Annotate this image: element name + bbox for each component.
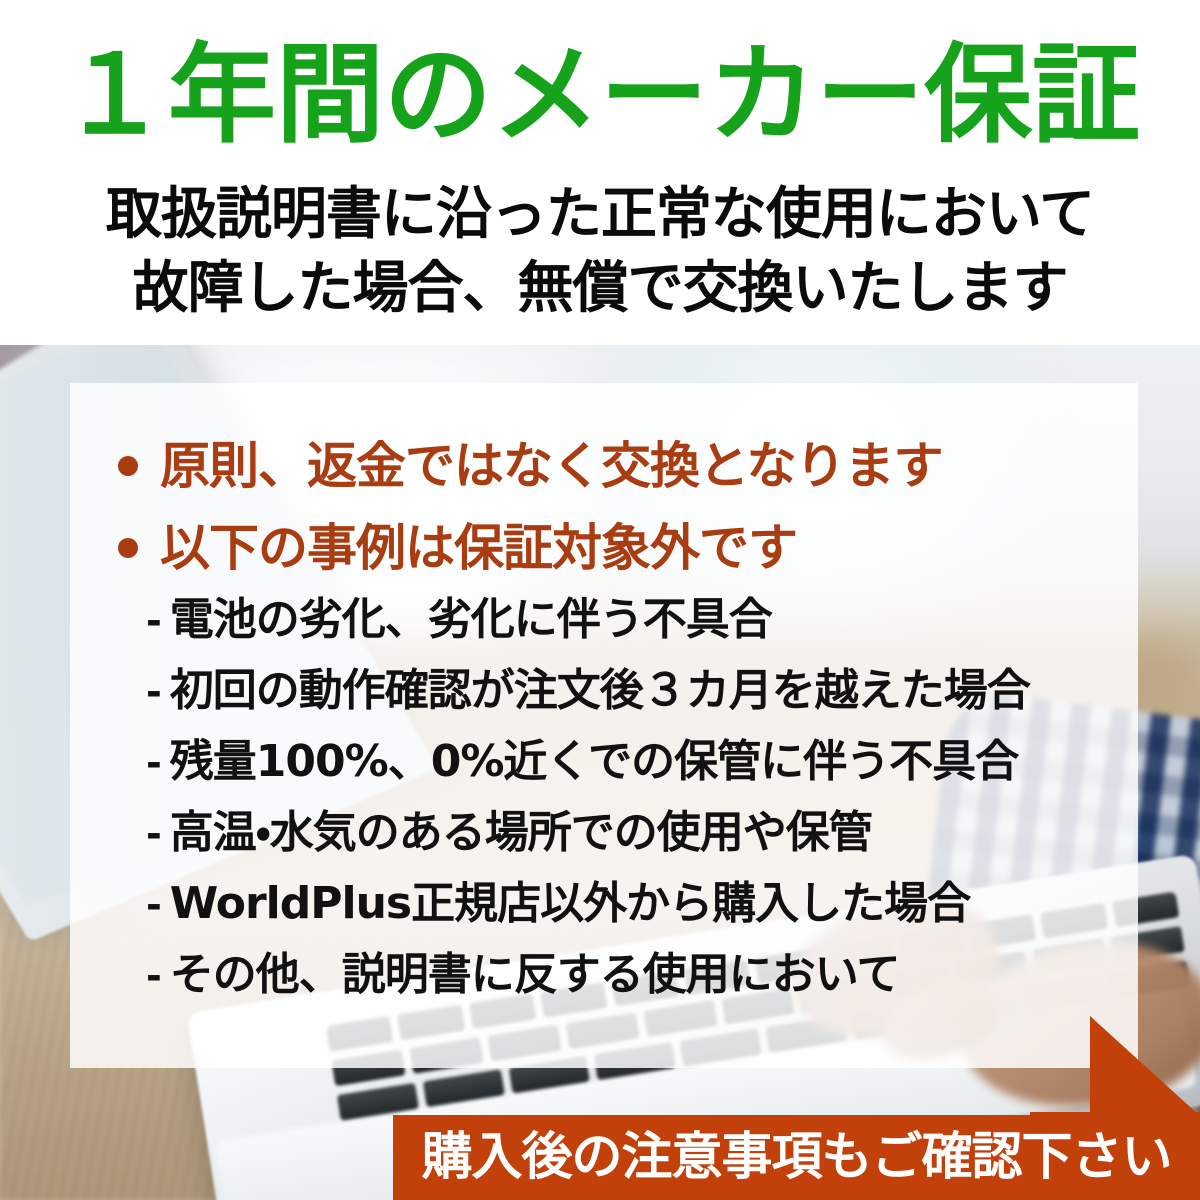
list-item: - 高温・水気のある場所での使用や保管 xyxy=(146,811,1146,882)
warranty-infographic: １年間のメーカー保証 取扱説明書に沿った正常な使用において 故障した場合、無償で… xyxy=(0,0,1200,1200)
subtitle-line-2: 故障した場合、無償で交換いたします xyxy=(0,252,1200,326)
list-item: - 初回の動作確認が注文後３カ月を越えた場合 xyxy=(146,669,1146,740)
list-item: - WorldPlus正規店以外から購入した場合 xyxy=(146,882,1146,953)
list-item-label: 残量100%、0%近くでの保管に伴う不具合 xyxy=(170,740,1018,784)
page-subtitle: 取扱説明書に沿った正常な使用において 故障した場合、無償で交換いたします xyxy=(0,178,1200,327)
up-arrow-icon xyxy=(1030,1016,1200,1124)
cta-banner[interactable]: 購入後の注意事項もご確認下さい xyxy=(393,1115,1200,1200)
list-item-label: 電池の劣化、劣化に伴う不具合 xyxy=(170,598,772,642)
list-item-label: 高温・水気のある場所での使用や保管 xyxy=(170,811,872,855)
bullet-label: 以下の事例は保証対象外です xyxy=(160,514,797,582)
list-item-label: WorldPlus正規店以外から購入した場合 xyxy=(170,882,970,926)
list-item: - 残量100%、0%近くでの保管に伴う不具合 xyxy=(146,740,1146,811)
bullet-item: 原則、返金ではなく交換となります xyxy=(118,432,1118,500)
list-item: - 電池の劣化、劣化に伴う不具合 xyxy=(146,598,1146,669)
dash-marker-icon: - xyxy=(146,602,162,640)
list-item: - その他、説明書に反する使用において xyxy=(146,953,1146,1024)
subtitle-line-1: 取扱説明書に沿った正常な使用において xyxy=(0,178,1200,252)
dash-marker-icon: - xyxy=(146,744,162,782)
cta-banner-label: 購入後の注意事項もご確認下さい xyxy=(421,1132,1171,1183)
list-item-label: 初回の動作確認が注文後３カ月を越えた場合 xyxy=(170,669,1030,713)
list-item-label: その他、説明書に反する使用において xyxy=(170,953,900,997)
bullet-dot-icon xyxy=(118,456,138,476)
bullet-label: 原則、返金ではなく交換となります xyxy=(160,432,943,500)
bullet-dot-icon xyxy=(118,538,138,558)
dash-marker-icon: - xyxy=(146,957,162,995)
page-title: １年間のメーカー保証 xyxy=(0,38,1200,155)
exclusion-list: - 電池の劣化、劣化に伴う不具合 - 初回の動作確認が注文後３カ月を越えた場合 … xyxy=(146,598,1146,1024)
dash-marker-icon: - xyxy=(146,886,162,924)
bullet-item: 以下の事例は保証対象外です xyxy=(118,514,1118,582)
dash-marker-icon: - xyxy=(146,815,162,853)
primary-bullet-list: 原則、返金ではなく交換となります 以下の事例は保証対象外です xyxy=(118,432,1118,596)
header-band: １年間のメーカー保証 取扱説明書に沿った正常な使用において 故障した場合、無償で… xyxy=(0,0,1200,345)
dash-marker-icon: - xyxy=(146,673,162,711)
